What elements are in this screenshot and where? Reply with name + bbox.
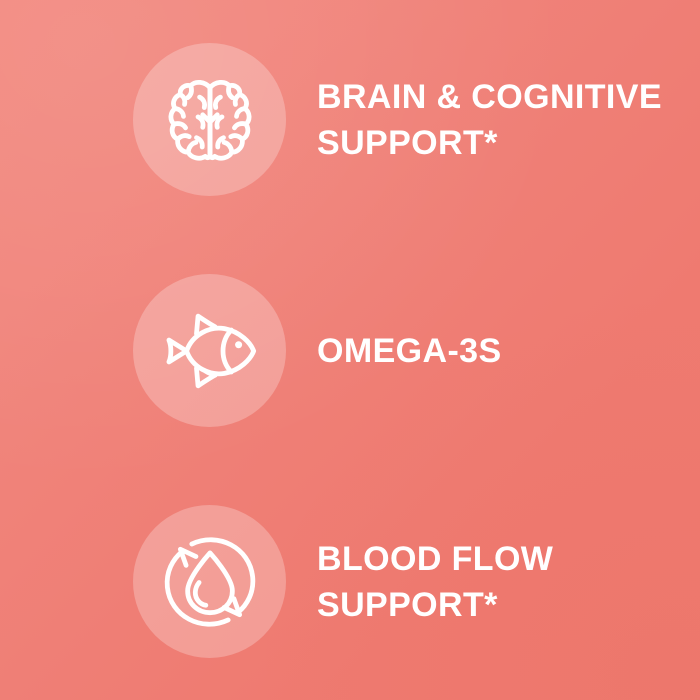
benefits-panel: BRAIN & COGNITIVE SUPPORT* OMEGA-3S: [0, 0, 700, 700]
benefit-item-omega: OMEGA-3S: [0, 274, 700, 427]
benefit-item-brain: BRAIN & COGNITIVE SUPPORT*: [0, 43, 700, 196]
icon-badge-omega: [133, 274, 286, 427]
icon-badge-brain: [133, 43, 286, 196]
fish-icon: [158, 299, 262, 403]
benefit-label-brain: BRAIN & COGNITIVE SUPPORT*: [317, 74, 662, 166]
benefit-item-blood: BLOOD FLOW SUPPORT*: [0, 505, 700, 658]
icon-badge-blood: [133, 505, 286, 658]
blood-drop-circulation-icon: [158, 530, 262, 634]
benefit-label-blood: BLOOD FLOW SUPPORT*: [317, 536, 553, 628]
brain-icon: [158, 68, 262, 172]
benefit-label-omega: OMEGA-3S: [317, 328, 502, 374]
